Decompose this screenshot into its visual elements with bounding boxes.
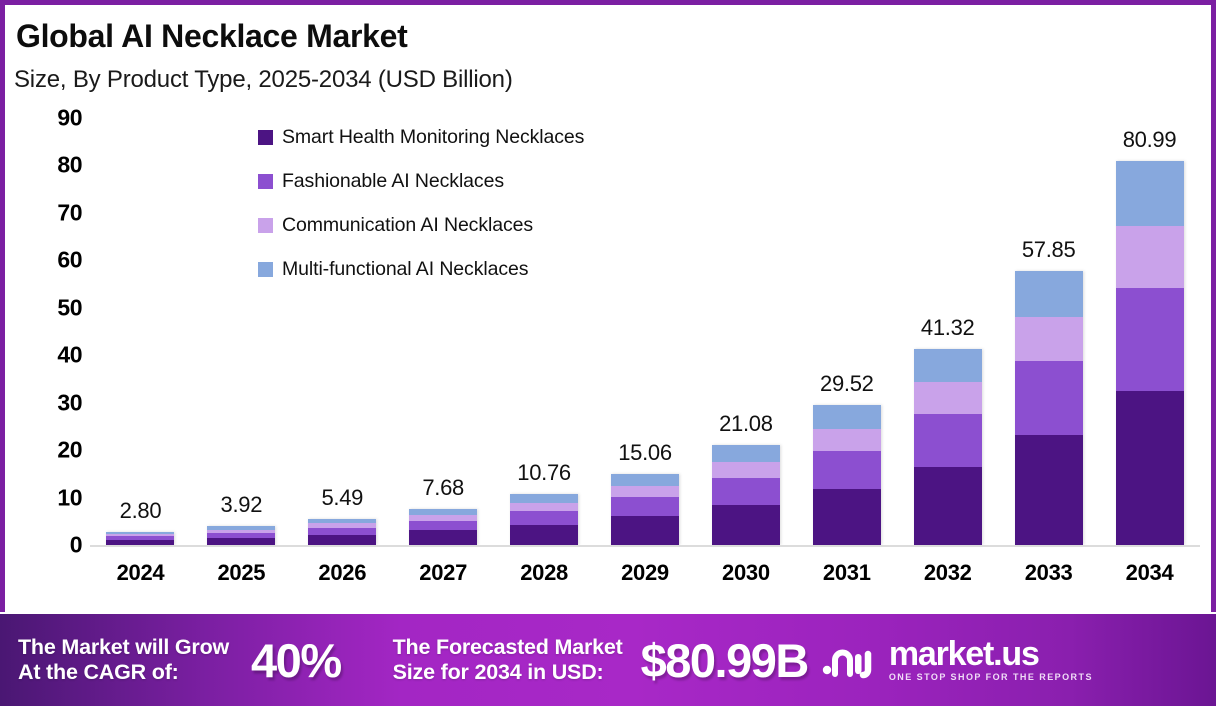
y-axis-tick: 80	[20, 152, 82, 179]
stacked-bar[interactable]	[207, 526, 275, 545]
y-axis-tick: 20	[20, 437, 82, 464]
bar-segment[interactable]	[207, 538, 275, 545]
x-axis-tick: 2033	[1004, 560, 1094, 586]
forecast-caption: The Forecasted Market Size for 2034 in U…	[393, 635, 623, 686]
y-axis-tick: 60	[20, 247, 82, 274]
y-axis-tick: 30	[20, 389, 82, 416]
bar-segment[interactable]	[409, 530, 477, 545]
y-axis-tick: 0	[20, 532, 82, 559]
bar-value-label: 80.99	[1070, 127, 1216, 153]
bar-segment[interactable]	[1015, 271, 1083, 318]
bar-column[interactable]: 3.92	[196, 118, 286, 545]
bar-column[interactable]: 15.06	[600, 118, 690, 545]
bar-segment[interactable]	[1116, 161, 1184, 226]
x-axis-tick: 2027	[398, 560, 488, 586]
bar-segment[interactable]	[712, 505, 780, 545]
bar-segment[interactable]	[510, 525, 578, 545]
stacked-bar[interactable]	[611, 474, 679, 545]
bar-segment[interactable]	[611, 486, 679, 497]
bar-segment[interactable]	[611, 516, 679, 545]
cagr-value: 40%	[251, 633, 341, 688]
market-us-logo[interactable]: market.us ONE STOP SHOP FOR THE REPORTS	[822, 638, 1093, 682]
stacked-bar[interactable]	[1015, 271, 1083, 545]
bar-segment[interactable]	[813, 429, 881, 451]
bar-segment[interactable]	[813, 489, 881, 545]
bar-segment[interactable]	[712, 445, 780, 462]
x-axis-tick: 2025	[196, 560, 286, 586]
x-axis-labels: 2024202520262027202820292030203120322033…	[90, 556, 1200, 590]
bar-segment[interactable]	[611, 474, 679, 486]
stacked-bar[interactable]	[510, 494, 578, 545]
bar-segment[interactable]	[510, 511, 578, 525]
bar-segment[interactable]	[914, 382, 982, 413]
stacked-bar[interactable]	[409, 509, 477, 545]
bar-segment[interactable]	[914, 467, 982, 545]
bar-column[interactable]: 57.85	[1004, 118, 1094, 545]
logo-wordmark: market.us	[889, 638, 1093, 670]
stacked-bar[interactable]	[712, 445, 780, 545]
bar-segment[interactable]	[1015, 435, 1083, 545]
bar-segment[interactable]	[1015, 317, 1083, 361]
bar-column[interactable]: 21.08	[701, 118, 791, 545]
x-axis-tick: 2024	[95, 560, 185, 586]
bar-segment[interactable]	[308, 535, 376, 545]
bar-segment[interactable]	[1015, 361, 1083, 435]
bar-column[interactable]: 80.99	[1105, 118, 1195, 545]
stacked-bar[interactable]	[1116, 161, 1184, 545]
page-subtitle: Size, By Product Type, 2025-2034 (USD Bi…	[14, 66, 513, 94]
bar-segment[interactable]	[712, 478, 780, 505]
market-us-logo-icon	[822, 640, 880, 680]
bar-segment[interactable]	[813, 451, 881, 489]
bar-column[interactable]: 41.32	[903, 118, 993, 545]
bar-segment[interactable]	[611, 497, 679, 516]
bar-segment[interactable]	[409, 521, 477, 531]
x-axis-line	[90, 545, 1200, 547]
bottom-banner: The Market will Grow At the CAGR of: 40%…	[0, 614, 1216, 706]
x-axis-tick: 2031	[802, 560, 892, 586]
market-us-logo-text: market.us ONE STOP SHOP FOR THE REPORTS	[889, 638, 1093, 682]
stacked-bar[interactable]	[308, 519, 376, 545]
x-axis-tick: 2030	[701, 560, 791, 586]
stacked-bar[interactable]	[914, 349, 982, 545]
logo-tagline: ONE STOP SHOP FOR THE REPORTS	[889, 672, 1093, 682]
x-axis-tick: 2032	[903, 560, 993, 586]
bar-segment[interactable]	[308, 528, 376, 535]
x-axis-tick: 2028	[499, 560, 589, 586]
bar-column[interactable]: 2.80	[95, 118, 185, 545]
y-axis-tick: 70	[20, 199, 82, 226]
cagr-caption: The Market will Grow At the CAGR of:	[18, 635, 229, 686]
bar-segment[interactable]	[914, 349, 982, 382]
bar-segment[interactable]	[1116, 288, 1184, 392]
bar-segment[interactable]	[1116, 226, 1184, 287]
y-axis-tick: 50	[20, 294, 82, 321]
bar-segment[interactable]	[712, 462, 780, 478]
y-axis-labels: 9080706050403020100	[20, 0, 82, 706]
x-axis-tick: 2034	[1105, 560, 1195, 586]
bar-segment[interactable]	[1116, 391, 1184, 545]
bar-segment[interactable]	[510, 494, 578, 503]
y-axis-tick: 90	[20, 105, 82, 132]
bar-segment[interactable]	[813, 405, 881, 429]
x-axis-tick: 2026	[297, 560, 387, 586]
forecast-value: $80.99B	[641, 633, 808, 688]
chart-infographic: Global AI Necklace Market Size, By Produ…	[0, 0, 1216, 706]
bar-segment[interactable]	[510, 503, 578, 511]
stacked-bar[interactable]	[106, 532, 174, 545]
y-axis-tick: 40	[20, 342, 82, 369]
bar-column[interactable]: 10.76	[499, 118, 589, 545]
bar-segment[interactable]	[914, 414, 982, 467]
x-axis-tick: 2029	[600, 560, 690, 586]
stacked-bar[interactable]	[813, 405, 881, 545]
bar-series-group: 2.803.925.497.6810.7615.0621.0829.5241.3…	[90, 118, 1200, 545]
